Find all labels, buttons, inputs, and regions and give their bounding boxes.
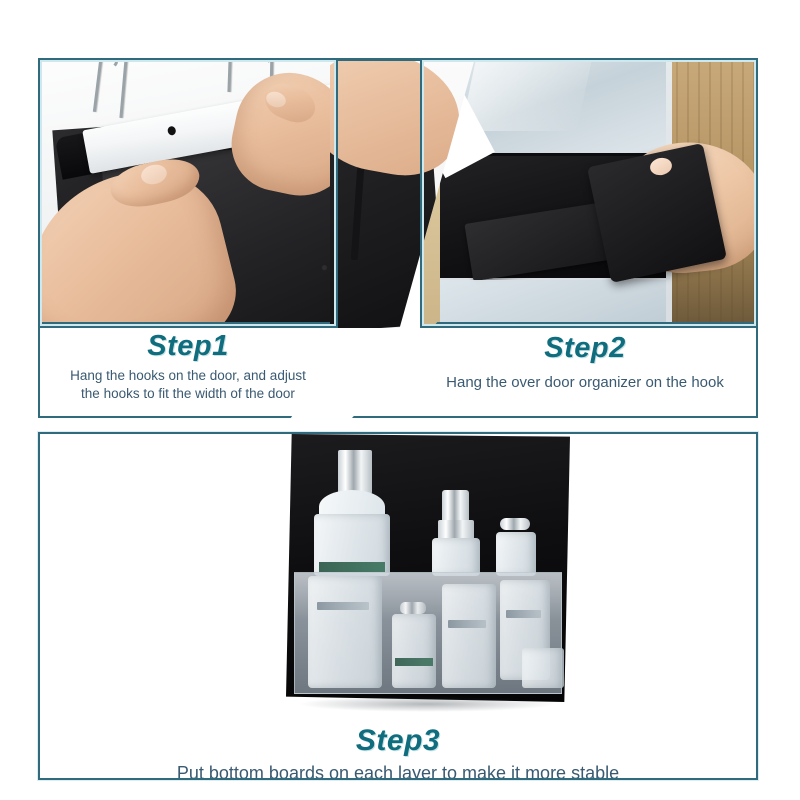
product-in-pocket-3 — [442, 584, 496, 688]
bottle-body — [432, 538, 480, 576]
bottle-text — [317, 602, 369, 610]
step2-photo — [420, 58, 758, 328]
product-in-pocket-1 — [308, 576, 382, 688]
bottle-cap — [500, 518, 530, 530]
product-in-pocket-2 — [392, 602, 436, 688]
bottle-cap — [338, 450, 372, 494]
bottle-cap — [442, 490, 469, 522]
bottle-body — [442, 584, 496, 688]
board-hole-left — [167, 126, 177, 136]
bottle-text — [506, 610, 541, 618]
product-cream-jar — [522, 648, 564, 688]
panel-top-border — [330, 58, 475, 61]
jar-body — [522, 648, 564, 688]
step1-photo — [38, 58, 338, 328]
bottle-label — [395, 658, 434, 666]
bottle-body — [392, 614, 436, 688]
bottle-cap — [400, 602, 426, 614]
step1-caption-box: Step1 Hang the hooks on the door, and ad… — [38, 322, 358, 418]
bottle-body — [308, 576, 382, 688]
bottle-label — [319, 562, 386, 572]
step3-photo — [284, 434, 573, 718]
step3-caption: Put bottom boards on each layer to make … — [40, 761, 756, 780]
step1-caption: Hang the hooks on the door, and adjust t… — [46, 367, 330, 403]
instruction-infographic: Step1 Hang the hooks on the door, and ad… — [0, 0, 800, 800]
step2-panel — [420, 58, 758, 328]
step2-caption: Hang the over door organizer on the hook — [424, 373, 746, 393]
step2-caption-box: Step2 Hang the over door organizer on th… — [352, 322, 758, 418]
step2-title: Step2 — [424, 332, 746, 365]
shelf-shadow — [298, 696, 556, 712]
step1-title: Step1 — [46, 330, 330, 363]
product-lotion-bottle-top — [496, 518, 536, 576]
product-spray-bottle — [432, 490, 480, 576]
clear-pocket-bottom — [424, 280, 666, 328]
bottle-text — [448, 620, 486, 628]
step3-title: Step3 — [40, 724, 756, 758]
product-tall-pump-bottle — [314, 450, 390, 576]
step3-caption-box: Step3 Put bottom boards on each layer to… — [40, 720, 756, 778]
step1-panel — [38, 58, 338, 328]
step3-panel: Step3 Put bottom boards on each layer to… — [38, 432, 758, 780]
bottle-body — [496, 532, 536, 576]
